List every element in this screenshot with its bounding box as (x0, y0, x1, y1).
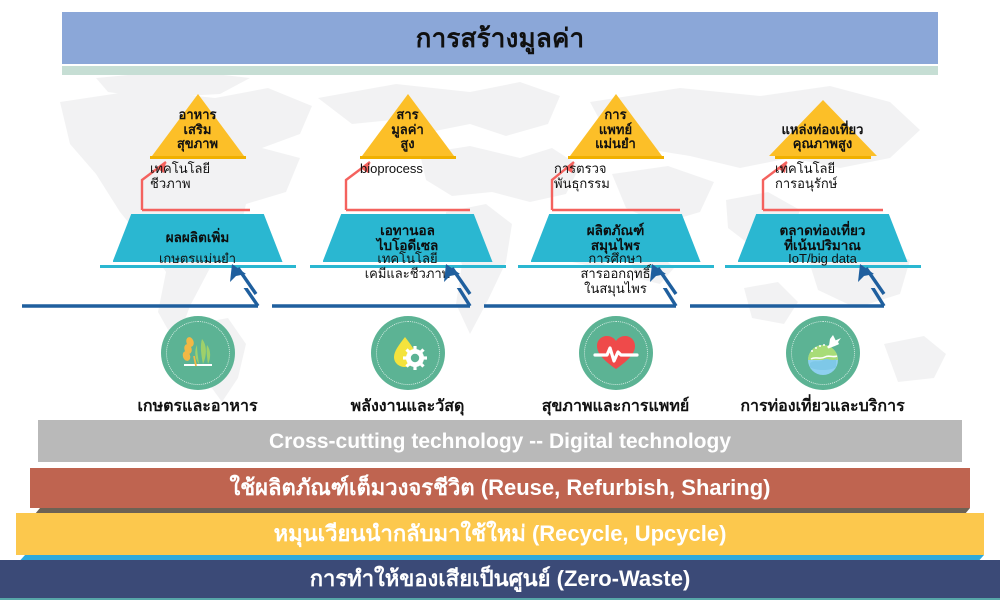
bar-zero-waste-label: การทำให้ของเสียเป็นศูนย์ (Zero-Waste) (310, 568, 691, 590)
bar-reuse-label: ใช้ผลิตภัณฑ์เต็มวงจรชีวิต (Reuse, Refurb… (229, 477, 770, 499)
page-title: การสร้างมูลค่า (416, 25, 585, 51)
base-label: ผลผลิตเพิ่ม (166, 230, 230, 245)
sector-label: พลังงานและวัสดุ (300, 398, 515, 416)
apex-block: อาหาร เสริม สุขภาพ (90, 84, 305, 156)
bar-zero-waste[interactable]: การทำให้ของเสียเป็นศูนย์ (Zero-Waste) (0, 560, 1000, 598)
technology-label: เทคโนโลยี ชีวภาพ (150, 162, 300, 191)
sector-cell-tourism[interactable]: การท่องเที่ยวและบริการ (715, 316, 930, 416)
technology-block: เทคโนโลยี การอนุรักษ์ (715, 156, 930, 214)
apex-block: สาร มูลค่า สูง (300, 84, 515, 156)
sector-cell-health[interactable]: สุขภาพและการแพทย์ (508, 316, 723, 416)
value-creation-infographic: การสร้างมูลค่า อาหาร เสริม สุขภาพ เทคโนโ… (0, 0, 1000, 600)
wheat-icon (161, 316, 235, 390)
apex-block: การ แพทย์ แม่นยำ (508, 84, 723, 156)
bar-cross-cutting-label: Cross-cutting technology -- Digital tech… (269, 431, 731, 452)
droplet-gear-icon (371, 316, 445, 390)
rail-arrowheads (0, 258, 1000, 298)
base-label: ตลาดท่องเที่ยว ที่เน้นปริมาณ (780, 223, 866, 253)
heart-pulse-icon (579, 316, 653, 390)
bar-reuse[interactable]: ใช้ผลิตภัณฑ์เต็มวงจรชีวิต (Reuse, Refurb… (30, 468, 970, 508)
sector-label: สุขภาพและการแพทย์ (508, 398, 723, 416)
apex-label: แหล่งท่องเที่ยว คุณภาพสูง (733, 123, 913, 152)
sector-cell-agriculture[interactable]: เกษตรและอาหาร (90, 316, 305, 416)
bar-cross-cutting[interactable]: Cross-cutting technology -- Digital tech… (38, 420, 962, 462)
technology-label: bioprocess (360, 162, 510, 177)
apex-block: แหล่งท่องเที่ยว คุณภาพสูง (715, 84, 930, 156)
base-label: เอทานอล ไบโอดีเซล (377, 223, 439, 253)
apex-label: สาร มูลค่า สูง (318, 108, 498, 152)
apex-label: การ แพทย์ แม่นยำ (526, 108, 706, 152)
technology-block: การตรวจ พันธุกรรม (508, 156, 723, 214)
bar-recycle[interactable]: หมุนเวียนนำกลับมาใช้ใหม่ (Recycle, Upcyc… (16, 513, 984, 555)
title-accent-strip (62, 66, 938, 75)
base-label: ผลิตภัณฑ์ สมุนไพร (587, 223, 645, 253)
sector-label: เกษตรและอาหาร (90, 398, 305, 416)
sector-cell-energy[interactable]: พลังงานและวัสดุ (300, 316, 515, 416)
apex-label: อาหาร เสริม สุขภาพ (108, 108, 288, 152)
technology-label: การตรวจ พันธุกรรม (554, 162, 714, 191)
technology-label: เทคโนโลยี การอนุรักษ์ (775, 162, 925, 191)
plane-globe-icon (786, 316, 860, 390)
sector-label: การท่องเที่ยวและบริการ (715, 398, 930, 416)
technology-block: bioprocess (300, 156, 515, 214)
technology-block: เทคโนโลยี ชีวภาพ (90, 156, 305, 214)
bar-recycle-label: หมุนเวียนนำกลับมาใช้ใหม่ (Recycle, Upcyc… (274, 523, 727, 545)
page-title-bar: การสร้างมูลค่า (62, 12, 938, 64)
